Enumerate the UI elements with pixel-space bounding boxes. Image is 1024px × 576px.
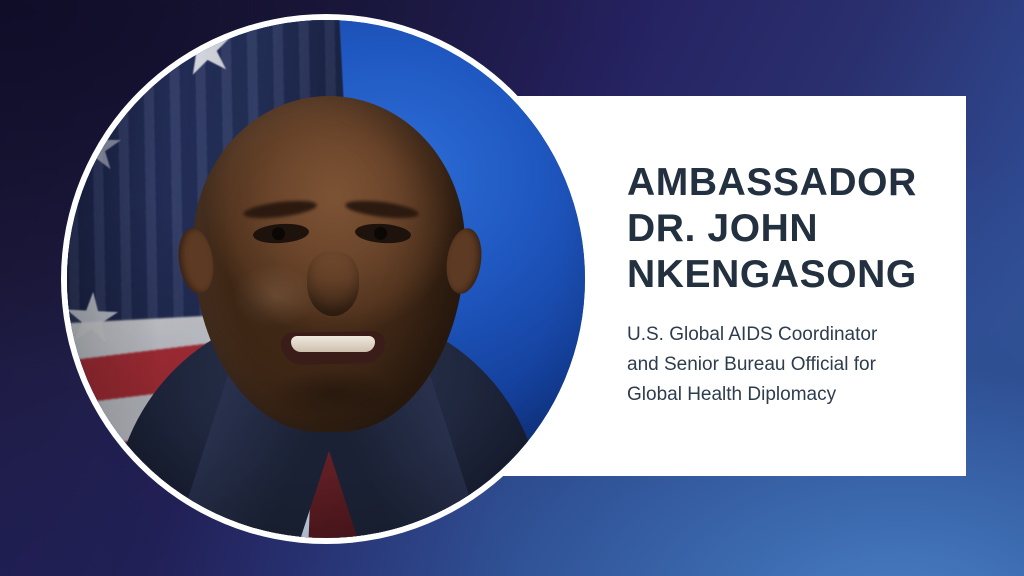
page-title: AMBASSADOR DR. JOHN NKENGASONG bbox=[627, 160, 947, 298]
portrait-ring bbox=[61, 14, 591, 544]
portrait-photo bbox=[67, 20, 585, 538]
chin-shadow bbox=[247, 370, 419, 426]
teeth bbox=[291, 336, 375, 352]
nose bbox=[307, 252, 359, 316]
subtitle: U.S. Global AIDS Coordinator and Senior … bbox=[627, 320, 947, 410]
text-block: AMBASSADOR DR. JOHN NKENGASONG U.S. Glob… bbox=[627, 160, 947, 410]
announcement-graphic: AMBASSADOR DR. JOHN NKENGASONG U.S. Glob… bbox=[0, 0, 1024, 576]
subtitle-line-2: and Senior Bureau Official for bbox=[627, 350, 947, 380]
headline-line-1: AMBASSADOR bbox=[627, 160, 947, 206]
subtitle-line-3: Global Health Diplomacy bbox=[627, 380, 947, 410]
subtitle-line-1: U.S. Global AIDS Coordinator bbox=[627, 320, 947, 350]
headline-line-3: NKENGASONG bbox=[627, 252, 947, 298]
headline-line-2: DR. JOHN bbox=[627, 206, 947, 252]
